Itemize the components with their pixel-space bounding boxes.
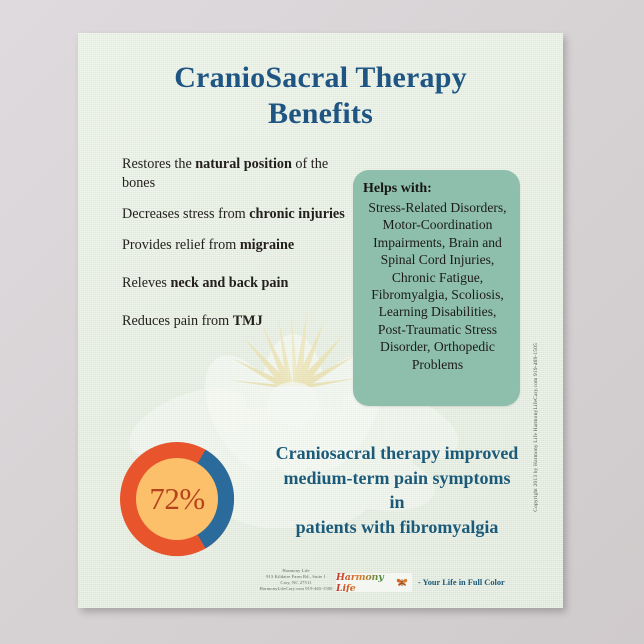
footer-logo-row: Harmony Life - Your Life in Full Color: [336, 573, 505, 592]
benefit-item-5: Reduces pain from TMJ: [122, 312, 350, 331]
harmony-life-logo: Harmony Life: [336, 573, 412, 592]
benefit-item-2: Decreases stress from chronic injuries: [122, 205, 350, 224]
statement-line-2: medium-term pain symptoms: [238, 466, 556, 491]
benefit-2-emphasis: chronic injuries: [249, 206, 345, 222]
donut-chart: 72%: [116, 438, 238, 560]
statement-line-1: Craniosacral therapy improved: [238, 441, 556, 466]
benefit-3-prefix: Provides relief from: [122, 237, 240, 253]
statement-line-3: in: [238, 490, 556, 515]
benefit-item-1: Restores the natural position of the bon…: [122, 155, 350, 193]
benefit-5-prefix: Reduces pain from: [122, 313, 233, 329]
butterfly-icon: [396, 577, 408, 588]
vertical-copyright-text: Copyright 2013 by Harmony Life HarmonyLi…: [533, 343, 539, 512]
benefit-item-4: Releves neck and back pain: [122, 274, 350, 293]
benefit-2-prefix: Decreases stress from: [122, 206, 249, 222]
benefit-1-emphasis: natural position: [195, 156, 292, 172]
benefit-4-prefix: Releves: [122, 275, 170, 291]
helps-with-body: Stress-Related Disorders, Motor-Coordina…: [363, 199, 512, 373]
helps-with-box: Helps with: Stress-Related Disorders, Mo…: [353, 170, 520, 406]
helps-with-heading: Helps with:: [363, 180, 512, 198]
benefits-list: Restores the natural position of the bon…: [122, 155, 350, 343]
title-line-1: CranioSacral Therapy: [78, 60, 563, 96]
benefit-5-emphasis: TMJ: [233, 313, 263, 329]
benefit-item-3: Provides relief from migraine: [122, 236, 350, 255]
benefit-1-prefix: Restores the: [122, 156, 195, 172]
poster-sheet: CranioSacral Therapy Benefits Restores t…: [78, 33, 563, 608]
footer-tagline: - Your Life in Full Color: [418, 578, 505, 587]
poster-title: CranioSacral Therapy Benefits: [78, 60, 563, 132]
benefit-4-emphasis: neck and back pain: [170, 275, 288, 291]
donut-center-value: 72%: [116, 438, 238, 560]
title-line-2: Benefits: [78, 96, 563, 132]
benefit-3-emphasis: migraine: [240, 237, 294, 253]
statement-line-4: patients with fibromyalgia: [238, 515, 556, 540]
statistic-statement: Craniosacral therapy improved medium-ter…: [238, 441, 556, 539]
